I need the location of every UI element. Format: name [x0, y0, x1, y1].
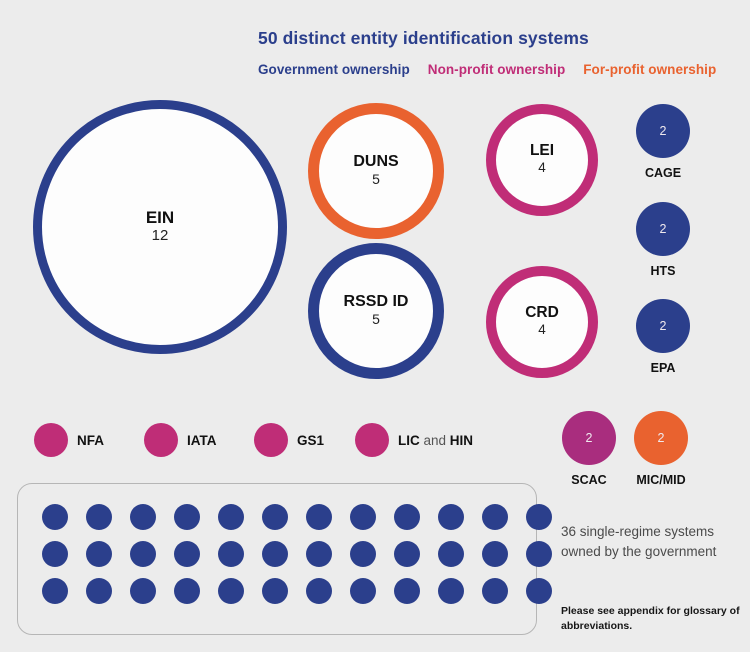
single-regime-dot	[218, 504, 244, 530]
single-regime-dot	[130, 578, 156, 604]
bubble-scac-value: 2	[562, 411, 616, 465]
single-regime-dot	[526, 578, 552, 604]
bubble-duns-value: 5	[372, 171, 380, 189]
and-text: and	[420, 433, 450, 448]
single-regime-dot	[482, 578, 508, 604]
bubble-mic-mid[interactable]: 2 MIC/MID	[616, 411, 706, 487]
single-regime-dot	[262, 541, 288, 567]
single-regime-dot	[394, 578, 420, 604]
bubble-rssd-id-value: 5	[372, 311, 380, 329]
bubble-lei-label: LEI	[530, 143, 554, 159]
single-regime-dot	[174, 541, 200, 567]
bubble-hts-label: HTS	[651, 264, 676, 278]
bubble-ein[interactable]: EIN 12	[33, 100, 287, 354]
single-regime-dot	[130, 504, 156, 530]
single-regime-dot	[42, 541, 68, 567]
bubble-mic-mid-label: MIC/MID	[636, 473, 685, 487]
single-regime-dot	[526, 504, 552, 530]
bubble-epa-label: EPA	[651, 361, 676, 375]
bubble-iata-label: IATA	[187, 433, 217, 448]
single-regime-dot	[438, 578, 464, 604]
bubble-rssd-id-label: RSSD ID	[344, 294, 409, 311]
single-regime-dot	[218, 578, 244, 604]
bubble-crd-value: 4	[538, 322, 546, 339]
single-regime-dot	[42, 504, 68, 530]
single-regime-nonprofit-list: NFA IATA GS1 LIC and HIN	[34, 423, 494, 459]
single-regime-dot	[350, 504, 376, 530]
single-regime-dot	[394, 541, 420, 567]
bubble-iata[interactable]: IATA	[144, 423, 217, 457]
bubble-mic-mid-value: 2	[634, 411, 688, 465]
bubble-epa-value: 2	[636, 299, 690, 353]
hin-text: HIN	[450, 433, 473, 448]
single-regime-dot	[86, 504, 112, 530]
single-regime-dot	[438, 504, 464, 530]
bubble-ein-value: 12	[152, 227, 169, 246]
single-regime-dot	[482, 541, 508, 567]
single-regime-dot	[174, 578, 200, 604]
bubble-scac-label: SCAC	[571, 473, 606, 487]
appendix-note: Please see appendix for glossary of abbr…	[561, 604, 741, 633]
bubble-nfa-dot	[34, 423, 68, 457]
single-regime-dot	[526, 541, 552, 567]
bubble-crd[interactable]: CRD 4	[486, 266, 598, 378]
legend-item-non-profit: Non-profit ownership	[428, 62, 565, 77]
single-regime-dot	[482, 504, 508, 530]
grid-caption: 36 single-regime systems owned by the go…	[561, 522, 741, 562]
single-regime-dot-grid	[42, 504, 570, 615]
ownership-legend: Government ownership Non-profit ownershi…	[258, 62, 716, 77]
single-regime-dot	[394, 504, 420, 530]
bubble-lei-value: 4	[538, 160, 546, 177]
bubble-crd-label: CRD	[525, 305, 559, 321]
bubble-epa[interactable]: 2 EPA	[618, 299, 708, 375]
bubble-nfa-label: NFA	[77, 433, 104, 448]
bubble-cage-label: CAGE	[645, 166, 681, 180]
bubble-duns[interactable]: DUNS 5	[308, 103, 444, 239]
bubble-duns-label: DUNS	[353, 154, 398, 171]
bubble-lic-and-hin-label: LIC and HIN	[398, 433, 473, 448]
single-regime-dot	[306, 541, 332, 567]
single-regime-dot	[218, 541, 244, 567]
bubble-cage[interactable]: 2 CAGE	[618, 104, 708, 180]
bubble-ein-label: EIN	[146, 209, 174, 227]
single-regime-dot	[130, 541, 156, 567]
bubble-nfa[interactable]: NFA	[34, 423, 104, 457]
legend-item-government: Government ownership	[258, 62, 410, 77]
single-regime-dot	[262, 578, 288, 604]
single-regime-dot	[174, 504, 200, 530]
single-regime-dot	[350, 541, 376, 567]
single-regime-dot	[306, 578, 332, 604]
bubble-iata-dot	[144, 423, 178, 457]
bubble-lic-and-hin-dot	[355, 423, 389, 457]
bubble-gs1-dot	[254, 423, 288, 457]
bubble-rssd-id[interactable]: RSSD ID 5	[308, 243, 444, 379]
bubble-gs1-label: GS1	[297, 433, 324, 448]
single-regime-dot	[42, 578, 68, 604]
single-regime-dot	[306, 504, 332, 530]
single-regime-dot	[86, 578, 112, 604]
lic-text: LIC	[398, 433, 420, 448]
bubble-hts[interactable]: 2 HTS	[618, 202, 708, 278]
single-regime-grid-panel	[17, 483, 537, 635]
bubble-lic-and-hin[interactable]: LIC and HIN	[355, 423, 473, 457]
page-title: 50 distinct entity identification system…	[258, 28, 589, 49]
bubble-cage-value: 2	[636, 104, 690, 158]
bubble-hts-value: 2	[636, 202, 690, 256]
infographic-canvas: 50 distinct entity identification system…	[0, 0, 750, 652]
single-regime-dot	[438, 541, 464, 567]
bubble-gs1[interactable]: GS1	[254, 423, 324, 457]
single-regime-dot	[86, 541, 112, 567]
legend-item-for-profit: For-profit ownership	[583, 62, 716, 77]
bubble-lei[interactable]: LEI 4	[486, 104, 598, 216]
single-regime-dot	[350, 578, 376, 604]
single-regime-dot	[262, 504, 288, 530]
